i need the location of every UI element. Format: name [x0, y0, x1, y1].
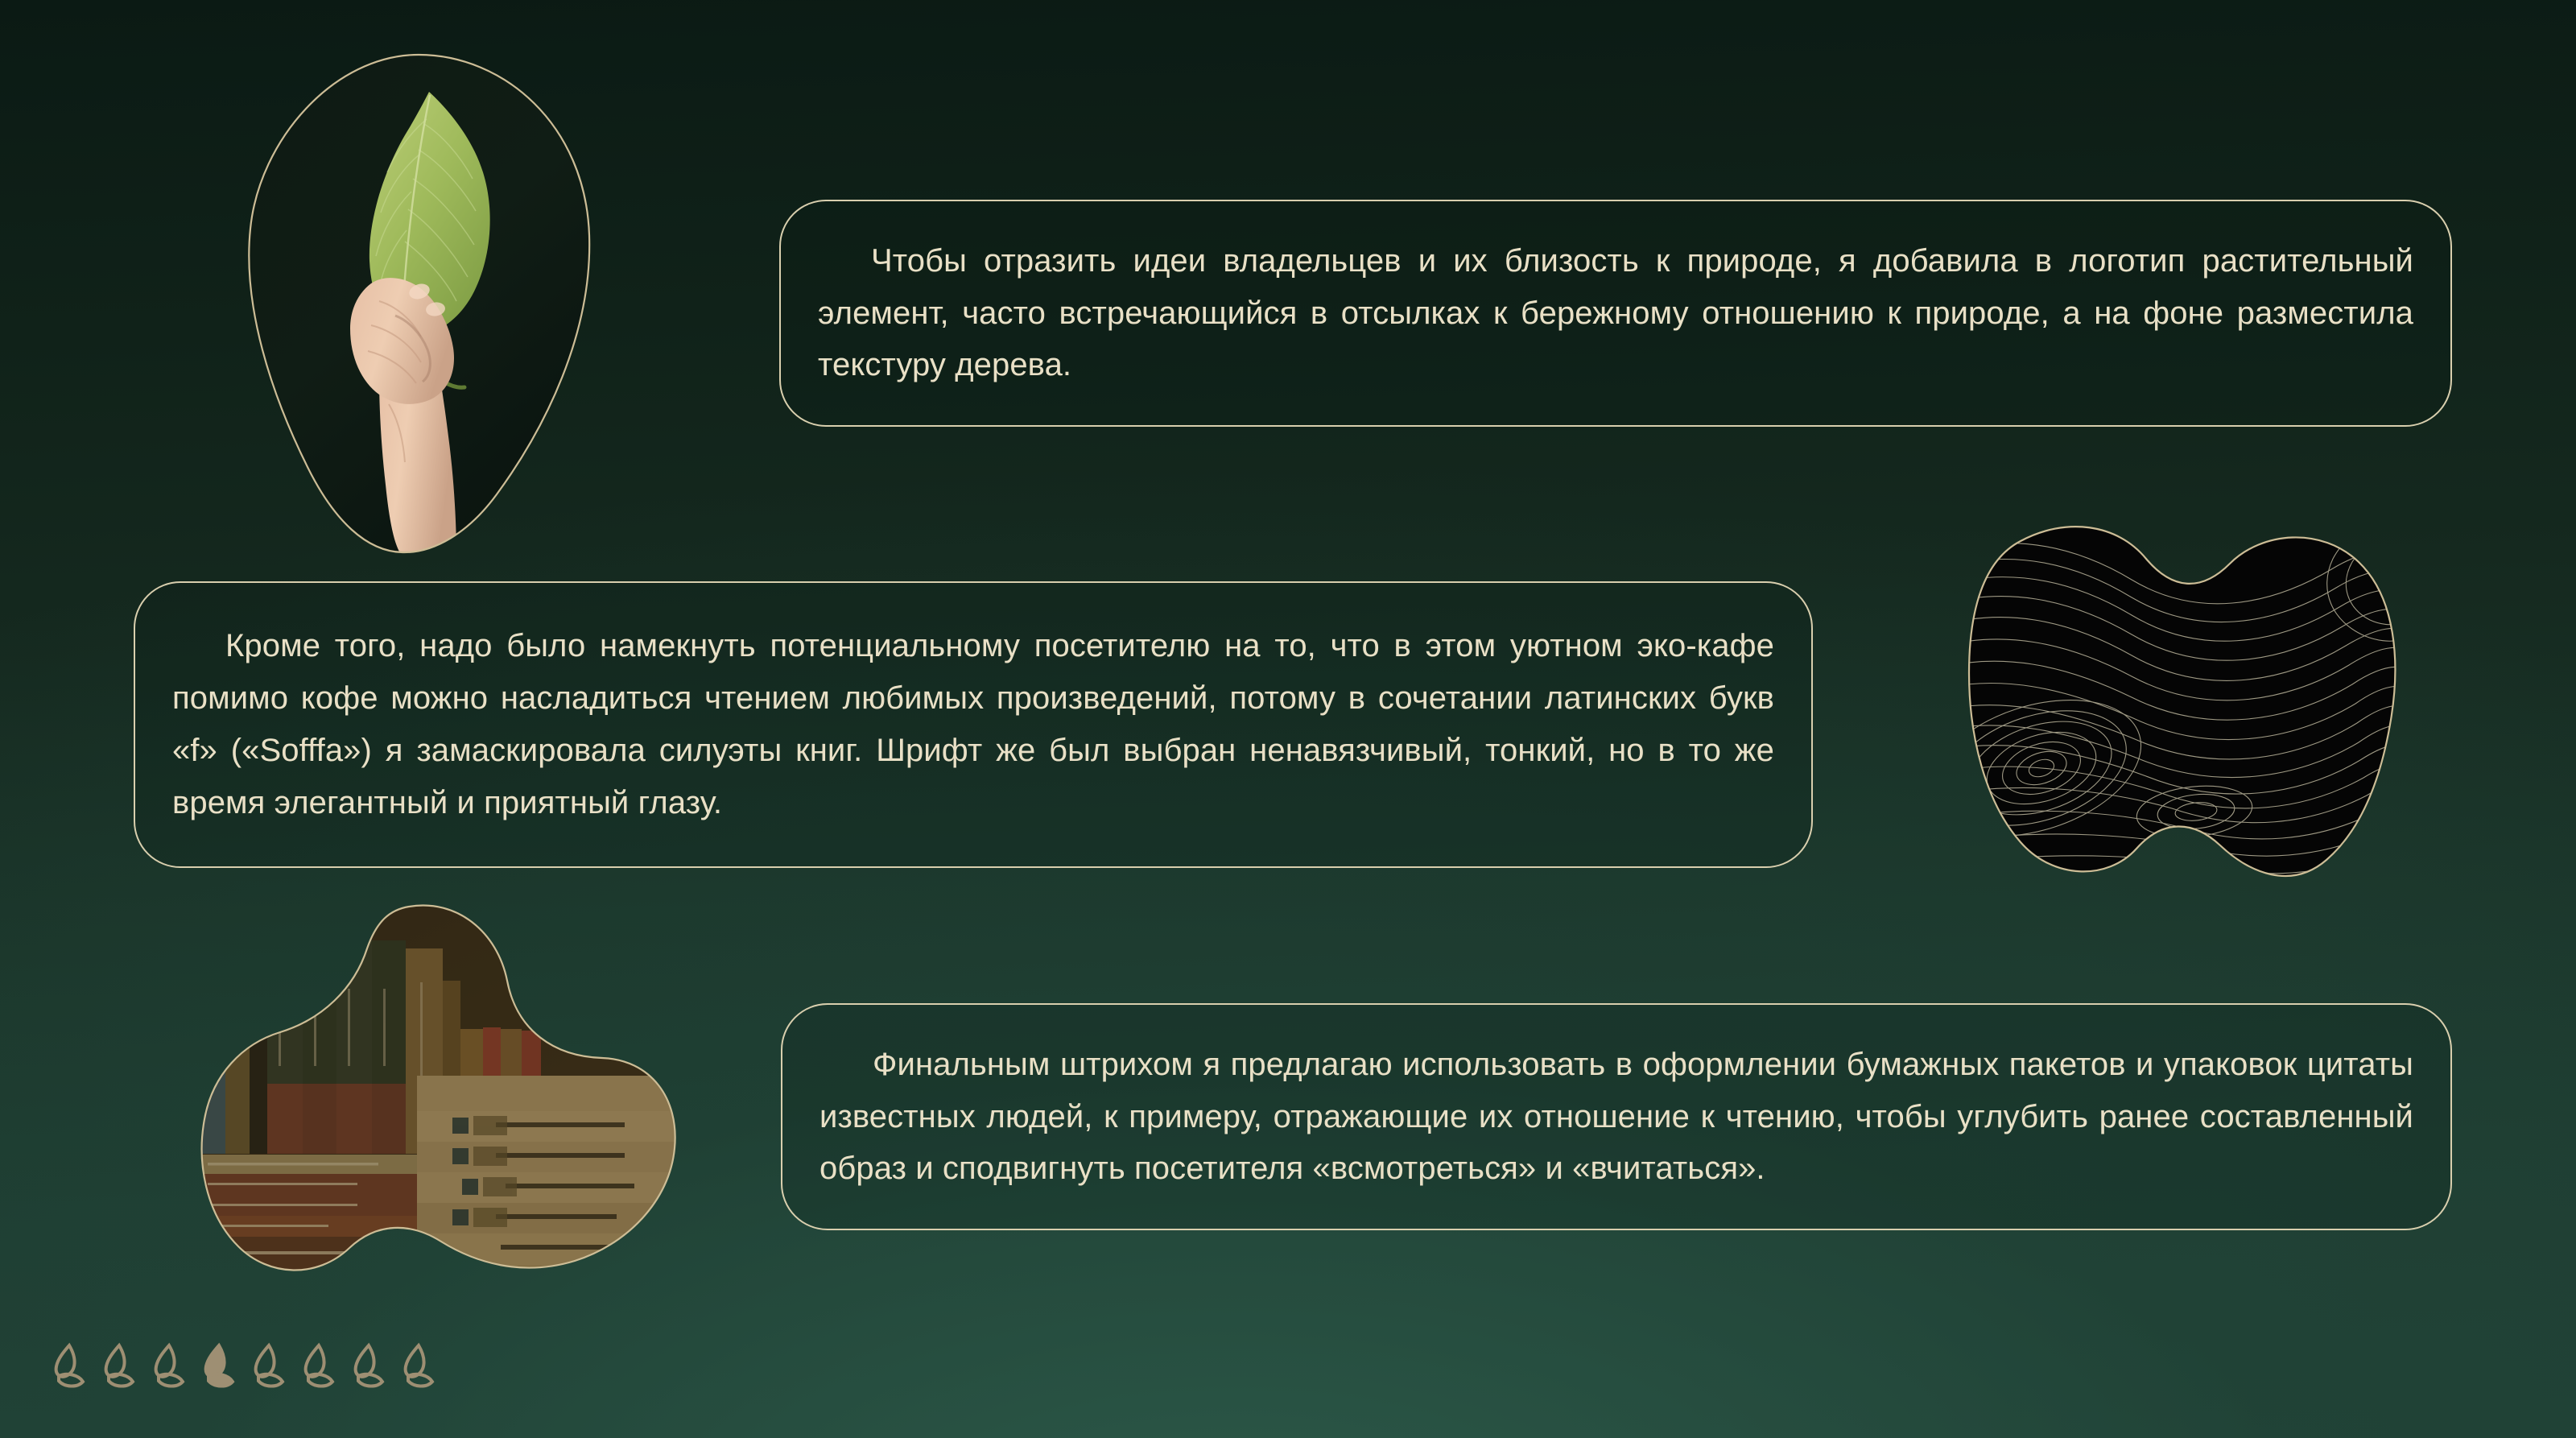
- wood-grain-texture-graphic: [1930, 512, 2413, 884]
- slide-root: Чтобы отразить идеи владельцев и их близ…: [0, 0, 2576, 1438]
- slide-pagination-leaves[interactable]: [50, 1341, 436, 1393]
- pagination-leaf-icon-2[interactable]: [100, 1341, 137, 1393]
- pagination-leaf-icon-5[interactable]: [250, 1341, 287, 1393]
- pagination-leaf-icon-7[interactable]: [349, 1341, 386, 1393]
- text-card-typography: Кроме того, надо было намекнуть потенциа…: [134, 581, 1813, 868]
- pagination-leaf-icon-6[interactable]: [299, 1341, 336, 1393]
- pagination-leaf-icon-3[interactable]: [150, 1341, 187, 1393]
- text-card-packaging: Финальным штрихом я предлагаю использова…: [781, 1003, 2452, 1230]
- pagination-leaf-icon-1[interactable]: [50, 1341, 87, 1393]
- stacked-books-photo: [175, 892, 691, 1295]
- text-card-typography-body: Кроме того, надо было намекнуть потенциа…: [172, 620, 1774, 829]
- hand-holding-leaf-photo: [237, 50, 592, 557]
- pagination-leaf-icon-8[interactable]: [399, 1341, 436, 1393]
- text-card-packaging-body: Финальным штрихом я предлагаю использова…: [819, 1039, 2413, 1195]
- text-card-concept-body: Чтобы отразить идеи владельцев и их близ…: [818, 235, 2413, 391]
- pagination-leaf-icon-4-active[interactable]: [200, 1341, 237, 1393]
- text-card-concept: Чтобы отразить идеи владельцев и их близ…: [779, 200, 2452, 427]
